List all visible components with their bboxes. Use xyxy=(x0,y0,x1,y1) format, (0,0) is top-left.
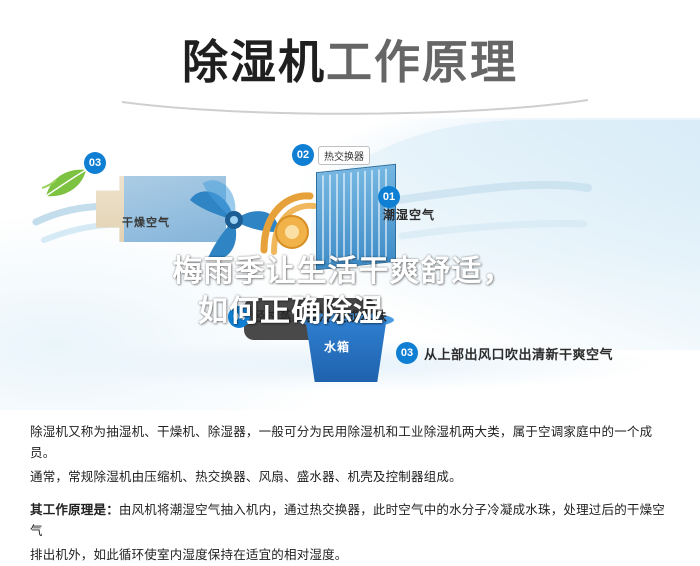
label-dry-air: 干燥空气 xyxy=(122,214,170,230)
badge-01: 01 xyxy=(378,186,400,208)
note-evaporator: 经过蒸发器冷凝成水珠 xyxy=(252,306,387,325)
article-paragraph-1: 除湿机又称为抽湿机、干燥机、除湿器，一般可分为民用除湿机和工业除湿机两大类，属于… xyxy=(30,422,670,464)
page-root: 除湿机工作原理 干燥空气 xyxy=(0,0,700,566)
label-wet-air: 潮湿空气 xyxy=(383,206,435,223)
leaf-icon xyxy=(42,166,88,200)
title-underline-decoration xyxy=(120,96,590,118)
article-paragraph-2: 通常，常规除湿机由压缩机、热交换器、风扇、盛水器、机壳及控制器组成。 xyxy=(30,467,670,488)
label-water-tank: 水箱 xyxy=(324,338,350,355)
label-heat-exchanger: 热交换器 xyxy=(318,146,370,165)
article-paragraph-3-lead: 其工作原理是： xyxy=(30,503,119,517)
badge-04: 04 xyxy=(228,306,250,328)
note-outlet: 从上部出风口吹出清新干爽空气 xyxy=(424,344,613,363)
title-sub: 工作原理 xyxy=(326,36,518,88)
article-paragraph-3: 其工作原理是：由风机将潮湿空气抽入机内，通过热交换器，此时空气中的水分子冷凝成水… xyxy=(30,500,670,542)
badge-03-bottom: 03 xyxy=(396,342,418,364)
heat-exchanger-fins xyxy=(322,169,388,264)
page-title: 除湿机工作原理 xyxy=(0,26,700,92)
badge-02: 02 xyxy=(292,144,314,166)
badge-03-left: 03 xyxy=(84,152,106,174)
article-paragraph-4: 排出机外，如此循环使室内湿度保持在适宜的相对湿度。 xyxy=(30,545,670,566)
title-main: 除湿机 xyxy=(182,36,326,88)
article-paragraph-3-text: 由风机将潮湿空气抽入机内，通过热交换器，此时空气中的水分子冷凝成水珠，处理过后的… xyxy=(30,503,665,538)
infographic-area: 除湿机工作原理 干燥空气 xyxy=(0,0,700,410)
article-body: 除湿机又称为抽湿机、干燥机、除湿器，一般可分为民用除湿机和工业除湿机两大类，属于… xyxy=(0,410,700,566)
